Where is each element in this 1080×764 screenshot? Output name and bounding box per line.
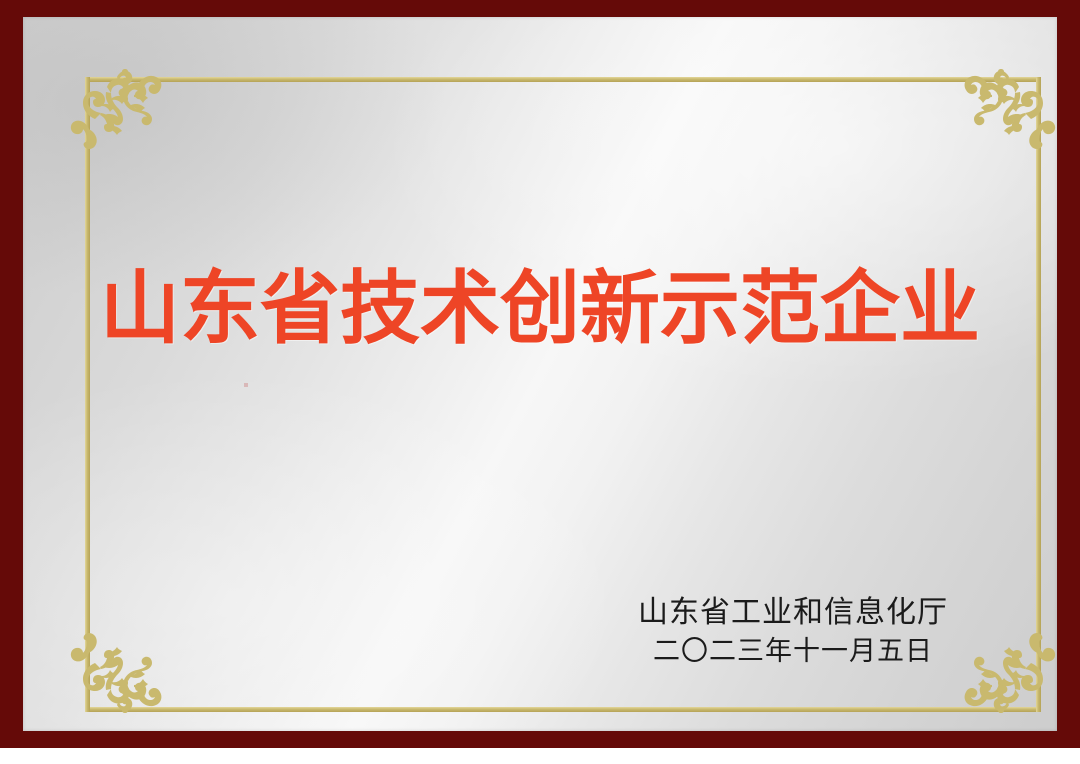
- issuing-agency: 山东省工业和信息化厅: [583, 595, 1003, 631]
- gold-rule-top: [85, 77, 1041, 82]
- plaque-outer-frame: 山东省技术创新示范企业 山东省工业和信息化厅 二〇二三年十一月五日: [0, 0, 1080, 748]
- gold-rule-right: [1036, 77, 1041, 712]
- speck-artifact: [244, 383, 248, 387]
- plaque-metal-board: 山东省技术创新示范企业 山东省工业和信息化厅 二〇二三年十一月五日: [23, 17, 1057, 731]
- gold-rule-left: [85, 77, 90, 712]
- corner-flourish-ornament-icon: [947, 53, 1057, 171]
- award-plaque-page: 山东省技术创新示范企业 山东省工业和信息化厅 二〇二三年十一月五日: [0, 0, 1080, 764]
- corner-flourish-ornament-icon: [61, 53, 179, 171]
- issue-date: 二〇二三年十一月五日: [583, 635, 1003, 669]
- gold-rule-bottom: [85, 707, 1041, 712]
- corner-flourish-ornament-icon: [61, 611, 179, 729]
- award-title: 山东省技术创新示范企业: [23, 264, 1057, 354]
- signature-block: 山东省工业和信息化厅 二〇二三年十一月五日: [583, 595, 1003, 669]
